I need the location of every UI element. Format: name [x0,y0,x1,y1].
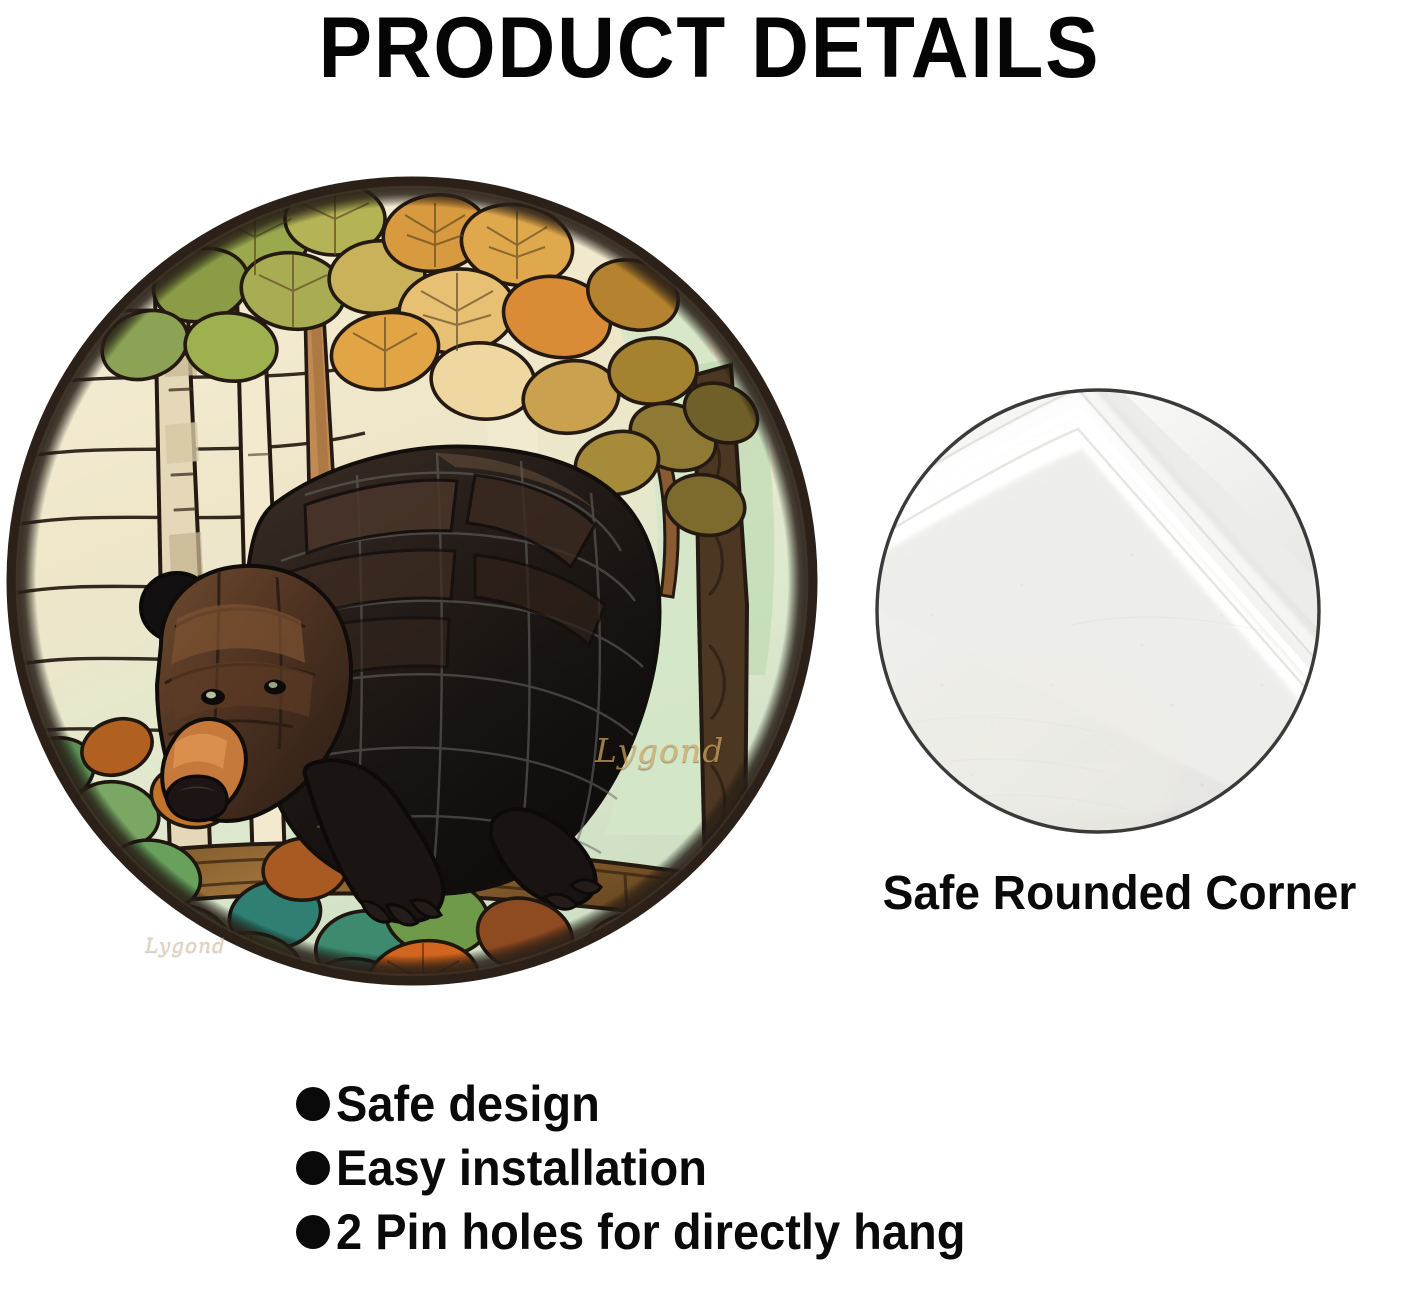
rounded-corner-illustration [872,385,1324,837]
product-details-page: PRODUCT DETAILS [0,0,1419,1290]
bullet-circle-icon [296,1087,330,1121]
stained-glass-illustration [5,175,820,987]
feature-label: 2 Pin holes for directly hang [336,1204,965,1260]
bullet-circle-icon [296,1151,330,1185]
list-item: Safe design [296,1074,1406,1134]
rounded-corner-closeup-image [872,385,1324,837]
page-title: PRODUCT DETAILS [50,2,1370,94]
feature-label: Safe design [336,1076,600,1132]
feature-label: Easy installation [336,1140,707,1196]
rounded-corner-caption: Safe Rounded Corner [832,866,1407,922]
bullet-circle-icon [296,1215,330,1249]
stained-glass-bear-image: Lygond Lygond [5,175,820,987]
list-item: Easy installation [296,1138,1406,1198]
feature-list: Safe design Easy installation 2 Pin hole… [296,1074,1406,1266]
list-item: 2 Pin holes for directly hang [296,1202,1406,1262]
